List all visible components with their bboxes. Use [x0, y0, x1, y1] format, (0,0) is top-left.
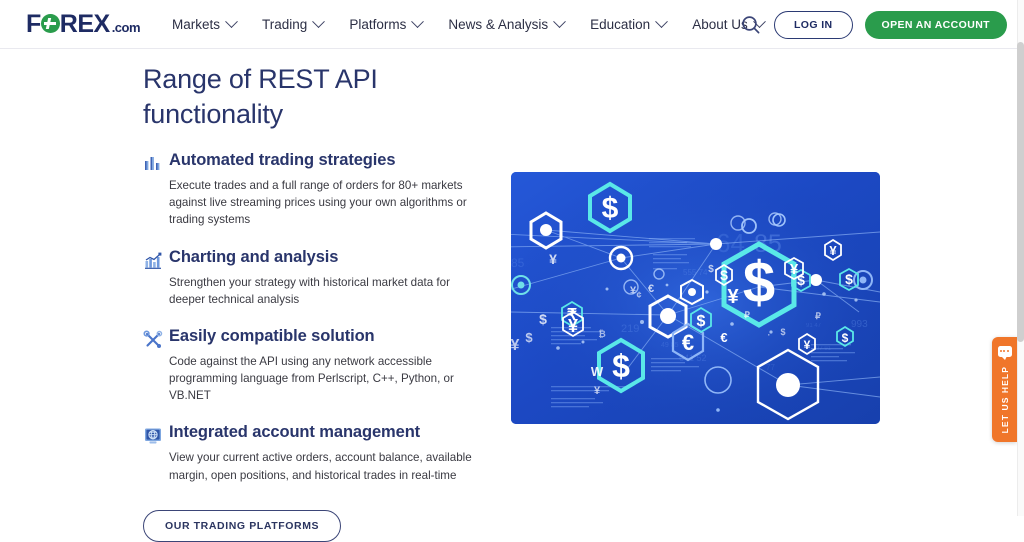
svg-text:¥: ¥ [594, 385, 601, 397]
svg-text:€: € [720, 330, 727, 345]
chevron-down-icon [312, 15, 325, 28]
svg-text:¥: ¥ [568, 316, 578, 336]
chevron-down-icon [411, 15, 424, 28]
nav-item-label: Trading [262, 17, 307, 32]
nav-item-platforms[interactable]: Platforms [349, 17, 422, 32]
svg-text:$: $ [539, 311, 547, 327]
svg-text:$: $ [697, 313, 706, 330]
svg-text:₿: ₿ [598, 329, 605, 339]
svg-text:85: 85 [511, 256, 525, 270]
svg-text:$: $ [780, 327, 785, 337]
open-account-button[interactable]: OPEN AN ACCOUNT [865, 11, 1007, 39]
our-trading-platforms-button[interactable]: OUR TRADING PLATFORMS [143, 510, 341, 542]
svg-text:¥: ¥ [790, 261, 799, 278]
svg-text:₽: ₽ [744, 310, 750, 320]
svg-text:$: $ [743, 250, 775, 315]
svg-text:¥: ¥ [549, 251, 557, 267]
nav-item-trading[interactable]: Trading [262, 17, 323, 32]
nav-item-education[interactable]: Education [590, 17, 666, 32]
svg-text:₽: ₽ [815, 311, 821, 321]
login-button[interactable]: LOG IN [774, 11, 853, 39]
chart-growth-icon [143, 251, 163, 271]
feature-description: Execute trades and a full range of order… [169, 177, 479, 228]
feature-charting-and-analysis: Charting and analysis Strengthen your st… [143, 248, 493, 308]
chat-label: LET US HELP [1000, 366, 1010, 433]
search-icon[interactable] [740, 14, 762, 36]
bar-chart-icon [143, 154, 163, 174]
feature-title: Integrated account management [169, 423, 493, 442]
svg-text:$: $ [708, 264, 714, 275]
feature-description: Strengthen your strategy with historical… [169, 274, 479, 308]
svg-text:$: $ [602, 192, 619, 225]
main-content: Range of REST API functionality Automate… [0, 49, 1017, 516]
currency-network-hexagons-image: 64 85 85 219 641 52 555 74 49 85 993 77 … [511, 172, 880, 424]
svg-text:€: € [682, 330, 694, 355]
page-title: Range of REST API functionality [143, 62, 493, 131]
site-header: F REX .com Markets Trading Platforms New… [0, 0, 1017, 49]
svg-text:$: $ [525, 330, 533, 345]
let-us-help-chat-button[interactable]: LET US HELP [992, 337, 1017, 442]
svg-text:91 47: 91 47 [806, 323, 822, 329]
chat-bubble-icon [998, 346, 1012, 357]
cta-container: OUR TRADING PLATFORMS [143, 510, 493, 542]
feature-description: View your current active orders, account… [169, 449, 479, 483]
svg-text:555 74: 555 74 [683, 268, 708, 277]
feature-integrated-account-management: Integrated account management View your … [143, 423, 493, 483]
svg-text:219: 219 [621, 323, 639, 335]
svg-text:W: W [591, 364, 604, 379]
feature-description: Code against the API using any network a… [169, 353, 479, 404]
nav-item-label: Markets [172, 17, 220, 32]
feature-column: Range of REST API functionality Automate… [143, 62, 493, 542]
svg-text:$: $ [842, 331, 849, 345]
nav-item-news-analysis[interactable]: News & Analysis [448, 17, 564, 32]
chat-dots [1000, 350, 1009, 352]
svg-text:¥: ¥ [829, 243, 837, 258]
euro-circle-icon [41, 14, 60, 33]
svg-text:$: $ [612, 348, 630, 384]
logo-text-dotcom: .com [112, 20, 140, 35]
chevron-down-icon [225, 15, 238, 28]
svg-text:$: $ [845, 271, 853, 287]
feature-easily-compatible-solution: Easily compatible solution Code against … [143, 327, 493, 404]
tools-icon [143, 330, 163, 350]
header-actions: LOG IN OPEN AN ACCOUNT [740, 0, 1007, 49]
globe-monitor-icon [143, 426, 163, 446]
svg-text:993: 993 [851, 319, 868, 330]
svg-text:49 85: 49 85 [661, 342, 679, 349]
nav-item-label: Platforms [349, 17, 406, 32]
feature-automated-trading-strategies: Automated trading strategies Execute tra… [143, 151, 493, 228]
feature-title: Automated trading strategies [169, 151, 493, 170]
forex-logo[interactable]: F REX .com [26, 10, 140, 39]
page-scrollbar[interactable] [1017, 0, 1024, 516]
svg-text:$: $ [720, 267, 728, 283]
main-navigation: Markets Trading Platforms News & Analysi… [172, 17, 764, 32]
svg-text:€: € [648, 283, 654, 295]
nav-item-label: News & Analysis [448, 17, 548, 32]
chevron-down-icon [553, 15, 566, 28]
chevron-down-icon [655, 15, 668, 28]
logo-text-rex: REX [60, 10, 110, 39]
svg-text:¥: ¥ [511, 337, 520, 354]
nav-item-label: Education [590, 17, 650, 32]
svg-text:¥: ¥ [804, 338, 811, 352]
feature-title: Charting and analysis [169, 248, 493, 267]
svg-text:¥: ¥ [727, 286, 739, 308]
scrollbar-thumb[interactable] [1017, 42, 1024, 342]
nav-item-markets[interactable]: Markets [172, 17, 236, 32]
feature-title: Easily compatible solution [169, 327, 493, 346]
logo-text-f: F [26, 10, 41, 39]
svg-text:77: 77 [766, 363, 775, 372]
